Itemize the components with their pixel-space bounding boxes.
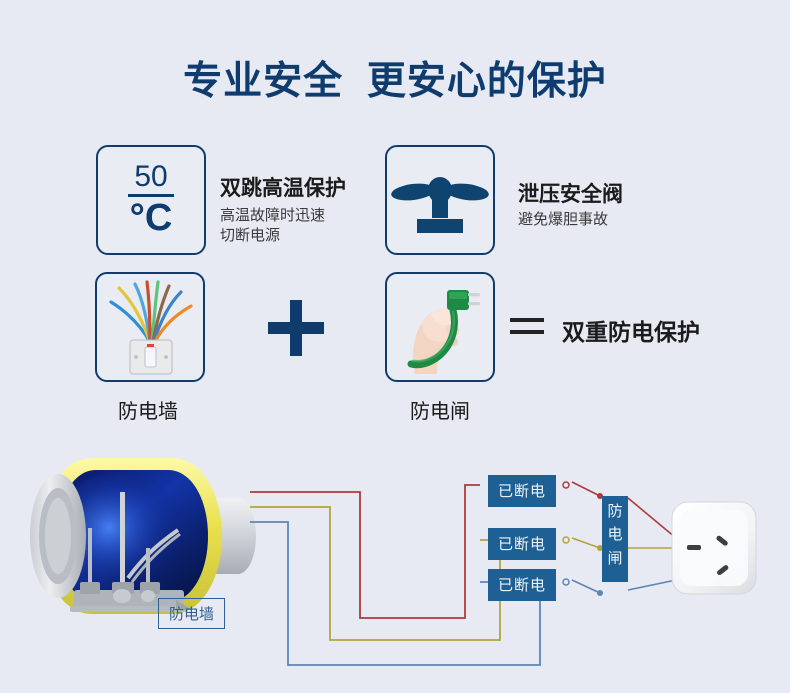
diagram-label-fangdianzha: 防 电 闸 <box>602 496 628 582</box>
feature-title-overheat: 双跳高温保护 <box>220 172 346 202</box>
caption-fangdianzha: 防电闸 <box>360 395 520 424</box>
badge-power-cut-3: 已断电 <box>488 569 556 601</box>
plus-operator-icon <box>268 300 324 356</box>
result-label: 双重防电保护 <box>562 313 700 347</box>
breaker-char-1: 防 <box>602 500 628 523</box>
feature-subtitle-valve: 避免爆胆事故 <box>518 210 698 230</box>
feature-title-valve: 泄压安全阀 <box>518 178 623 208</box>
temp-value: 50 <box>128 162 173 197</box>
badge-power-cut-1: 已断电 <box>488 475 556 507</box>
hand-holding-green-plug-photo <box>385 272 495 382</box>
wires-wall-socket-photo <box>95 272 205 382</box>
diagram-label-fangdianqiang: 防电墙 <box>158 598 225 629</box>
wires-graphic <box>97 274 203 380</box>
badge-power-cut-2: 已断电 <box>488 528 556 560</box>
feature-subtitle-overheat: 高温故障时迅速 切断电源 <box>220 206 380 247</box>
wiring-diagram <box>0 430 790 693</box>
temp-unit: °C <box>130 199 173 239</box>
caption-fangdianqiang: 防电墙 <box>68 395 228 424</box>
temperature-50c-icon: 50 °C <box>96 145 206 255</box>
breaker-char-3: 闸 <box>602 547 628 570</box>
pressure-relief-valve-icon <box>385 145 495 255</box>
valve-glyph <box>387 147 493 253</box>
page-title: 专业安全 更安心的保护 <box>0 50 790 106</box>
hand-plug-graphic <box>387 274 493 380</box>
breaker-char-2: 电 <box>602 523 628 546</box>
equals-operator-icon <box>510 316 544 336</box>
